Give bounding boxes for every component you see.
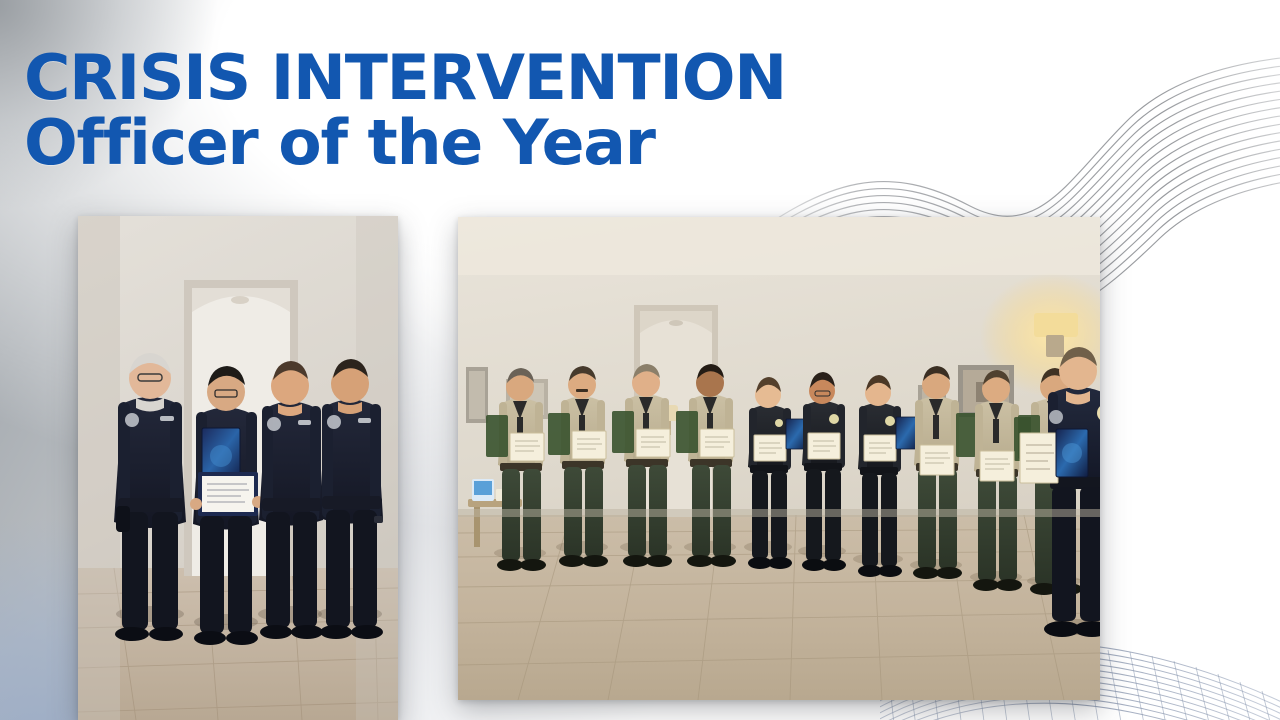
page-title: CRISIS INTERVENTION Officer of the Year [24, 49, 1004, 171]
photo-right-image [458, 217, 1100, 700]
photo-left-image [78, 216, 398, 720]
slide-root: CRISIS INTERVENTION Officer of the Year [0, 0, 1280, 720]
title-line-1: CRISIS INTERVENTION [24, 49, 1024, 106]
photo-right[interactable]: Eleven law enforcement officers standing… [458, 217, 1100, 700]
photo-left[interactable]: Four police officers in dark navy unifor… [78, 216, 398, 720]
title-line-2: Officer of the Year [24, 114, 1024, 171]
